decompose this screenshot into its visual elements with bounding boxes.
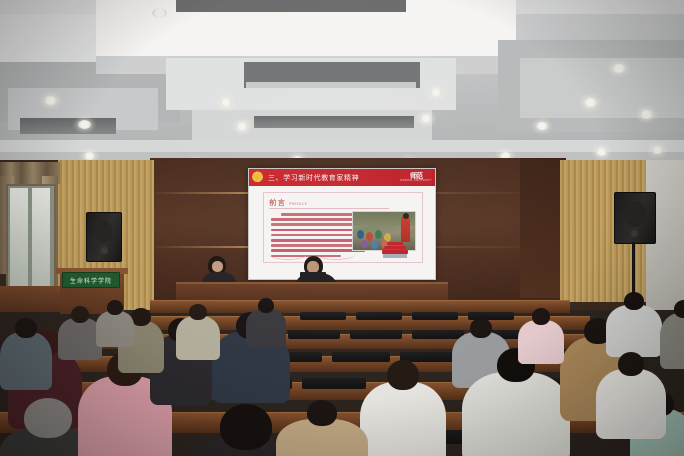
attendee-head xyxy=(71,306,89,323)
attendee-torso xyxy=(518,320,564,364)
attendee-head xyxy=(258,298,274,313)
attendee-torso xyxy=(0,332,52,390)
attendee-torso xyxy=(596,369,666,439)
attendee-head xyxy=(624,292,644,310)
attendee-head xyxy=(24,398,72,438)
attendee-head xyxy=(387,360,419,390)
attendee-head xyxy=(470,318,492,338)
attendee-torso xyxy=(246,309,286,347)
attendee-torso xyxy=(660,313,684,369)
attendee-head xyxy=(618,352,644,376)
attendee-head xyxy=(220,404,272,450)
attendee-head xyxy=(15,318,37,338)
attendee-head xyxy=(189,304,207,320)
attendee-torso xyxy=(96,311,134,347)
attendee-head xyxy=(131,308,151,326)
attendee-torso xyxy=(176,316,220,360)
lecture-hall-photograph: 生命科学学院 三、学习新时代教育家精神 师范 NORMAL UNIVERSITY… xyxy=(0,0,684,456)
attendee-head xyxy=(674,300,684,318)
audience xyxy=(0,0,684,456)
attendee-head xyxy=(532,308,550,325)
attendee-torso xyxy=(462,372,570,456)
attendee-torso xyxy=(606,305,662,357)
attendee-head xyxy=(107,300,123,315)
attendee-torso xyxy=(360,382,446,456)
attendee-head xyxy=(307,400,337,426)
